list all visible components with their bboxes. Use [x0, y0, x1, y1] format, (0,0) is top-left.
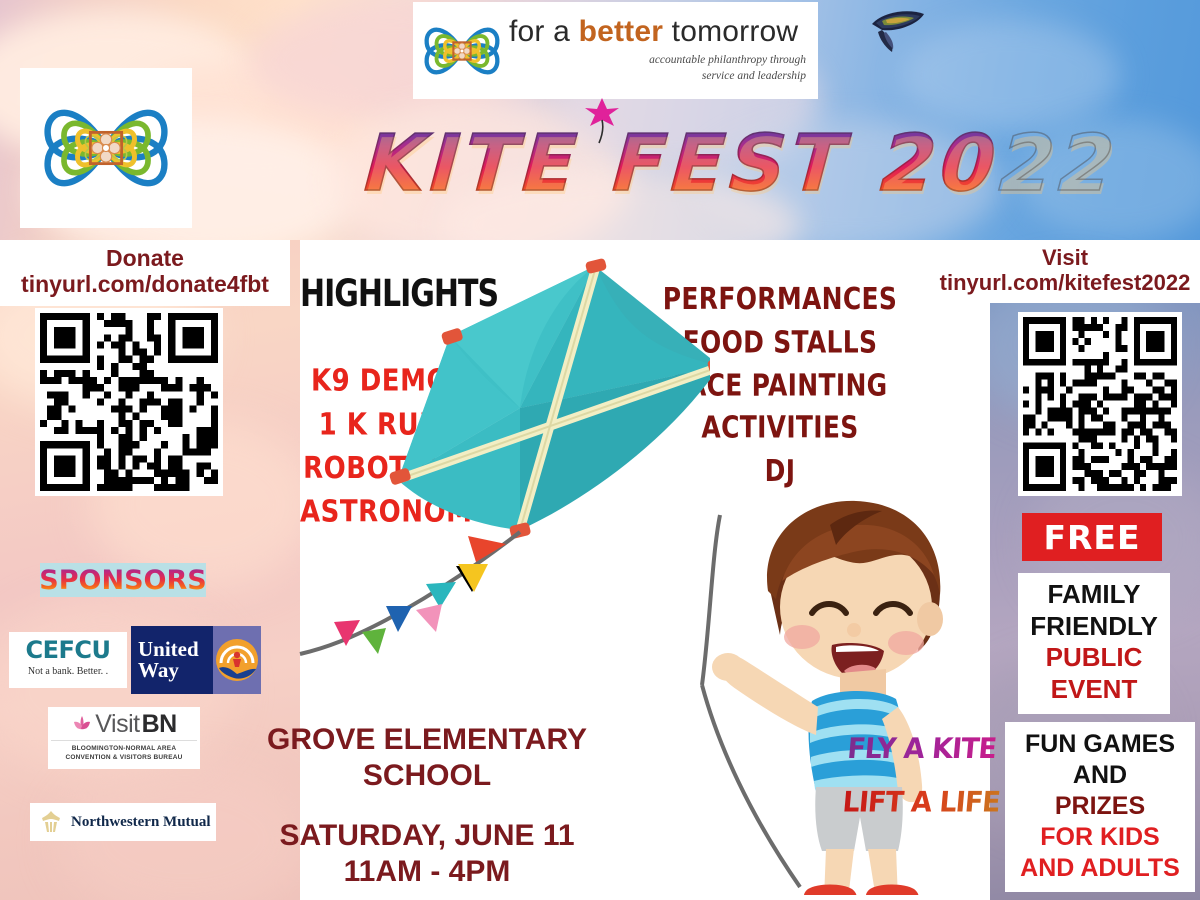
donate-qr-code[interactable] [35, 308, 223, 496]
four-petal-flower-icon [31, 77, 181, 219]
free-badge: FREE [1022, 513, 1162, 561]
organization-logo-box [20, 68, 192, 228]
slogan: FLY A KITE LIFT A LIFE [840, 722, 1019, 830]
venue-details: GROVE ELEMENTARY SCHOOL SATURDAY, JUNE 1… [262, 722, 592, 890]
visit-qr-code[interactable] [1018, 312, 1182, 496]
sponsor-logo-northwestern-mutual: Northwestern Mutual [30, 803, 216, 841]
parafoil-kite-icon [868, 8, 930, 54]
kite-fest-poster: for a better tomorrow accountable philan… [0, 0, 1200, 900]
org-banner: for a better tomorrow accountable philan… [413, 2, 818, 99]
fun-games-panel: FUN GAMES AND PRIZES FOR KIDS AND ADULTS [1005, 722, 1195, 892]
org-tagline: accountable philanthropy through service… [509, 53, 812, 84]
lotus-icon [71, 713, 93, 735]
family-friendly-panel: FAMILY FRIENDLY PUBLIC EVENT [1018, 573, 1170, 714]
org-name: for a better tomorrow [509, 17, 812, 47]
kite-illustration [290, 248, 710, 668]
sponsor-logo-visitbn: VisitBN BLOOMINGTON-NORMAL AREA CONVENTI… [48, 707, 200, 769]
banner-flower-icon [419, 8, 505, 94]
page-title: KITE FEST 2022 [361, 112, 999, 222]
sponsors-heading: SPONSORS [40, 563, 206, 597]
sponsor-logo-cefcu: CEFCU Not a bank. Better. . [9, 632, 127, 688]
nm-crest-icon [38, 809, 64, 835]
boy-flying-kite-illustration [690, 495, 1000, 895]
visit-label-block: Visit tinyurl.com/kitefest2022 [930, 240, 1200, 303]
united-way-hand-icon [213, 626, 261, 694]
donate-label-block: Donate tinyurl.com/donate4fbt [0, 240, 290, 306]
sponsor-logo-united-way: United Way [131, 626, 261, 694]
